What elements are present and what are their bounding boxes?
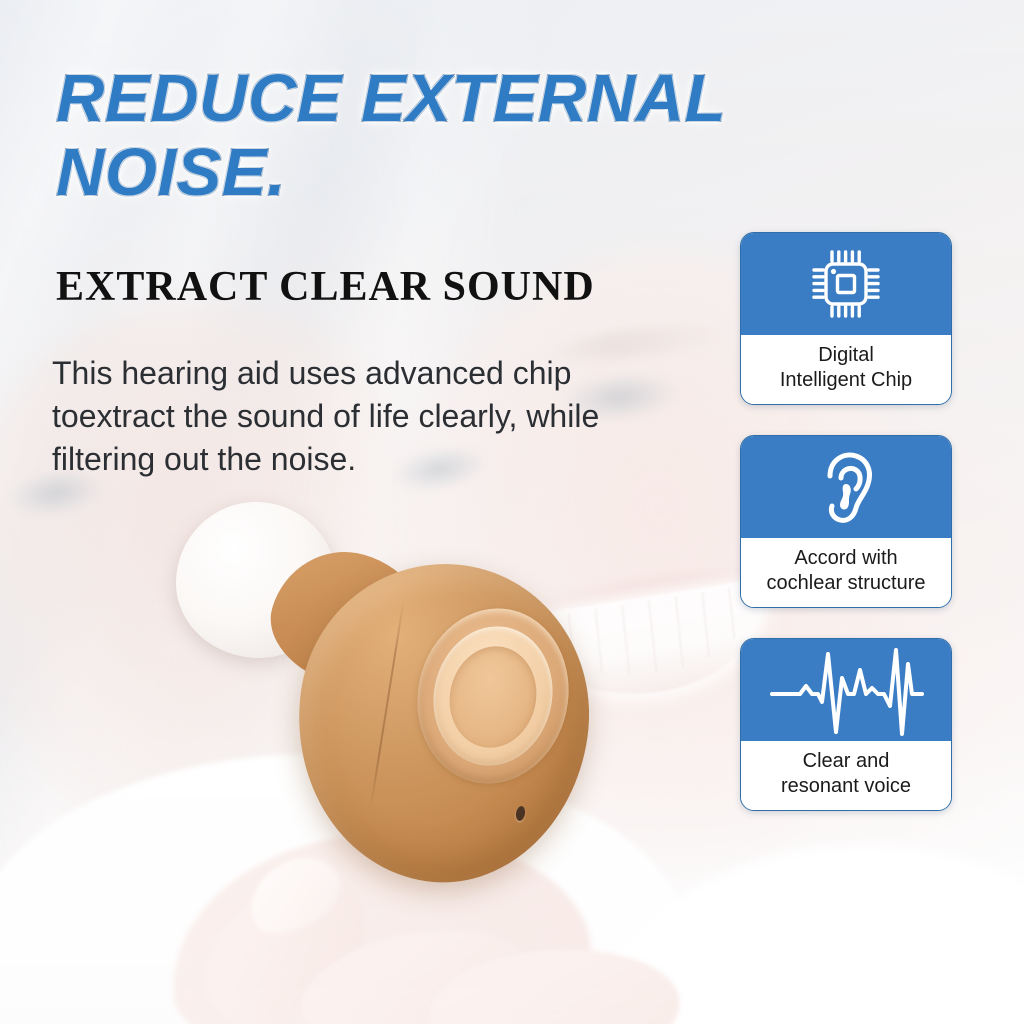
feature-card-label: Clear and resonant voice: [741, 741, 951, 810]
feature-label-line-1: Digital: [745, 343, 947, 368]
feature-label-line-1: Clear and: [745, 749, 947, 774]
headline-line-1: REDUCE EXTERNAL: [56, 62, 816, 136]
cpu-chip-icon: [741, 233, 951, 335]
feature-card-label: Accord with cochlear structure: [741, 538, 951, 607]
feature-label-line-1: Accord with: [745, 546, 947, 571]
feature-label-line-2: resonant voice: [745, 774, 947, 799]
feature-card-list: Digital Intelligent Chip Accord with coc…: [740, 232, 952, 841]
ear-icon: [741, 436, 951, 538]
subheading: EXTRACT CLEAR SOUND: [56, 263, 595, 311]
feature-label-line-2: cochlear structure: [745, 571, 947, 596]
feature-card-label: Digital Intelligent Chip: [741, 335, 951, 404]
product-feature-poster: REDUCE EXTERNAL NOISE. EXTRACT CLEAR SOU…: [0, 0, 1024, 1024]
feature-label-line-2: Intelligent Chip: [745, 368, 947, 393]
feature-card-resonant-voice: Clear and resonant voice: [740, 638, 952, 811]
feature-card-digital-chip: Digital Intelligent Chip: [740, 232, 952, 405]
headline: REDUCE EXTERNAL NOISE.: [56, 62, 816, 210]
audio-waveform-icon: [741, 639, 951, 741]
feature-card-cochlear-structure: Accord with cochlear structure: [740, 435, 952, 608]
headline-line-2: NOISE.: [56, 136, 816, 210]
hearing-aid-product-image: [150, 480, 590, 920]
body-copy: This hearing aid uses advanced chip toex…: [52, 352, 652, 481]
